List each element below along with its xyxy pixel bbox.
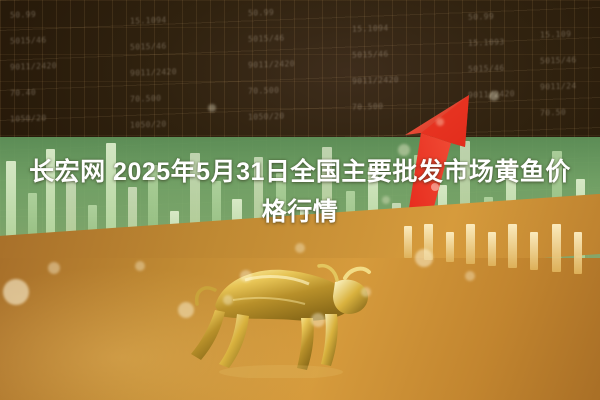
bokeh-dot [415, 249, 433, 267]
bokeh-dot [178, 302, 194, 318]
banner-title: 长宏网 2025年5月31日全国主要批发市场黄鱼价 格行情 [0, 152, 600, 232]
bokeh-dot [465, 271, 475, 281]
bokeh-dot [240, 270, 252, 282]
bokeh-dot [135, 261, 145, 271]
bokeh-dot [3, 279, 29, 305]
bokeh-dot [208, 104, 216, 112]
banner-image: 50.995015/469011/242070.401050/2015.1094… [0, 0, 600, 400]
title-line-2: 格行情 [0, 192, 600, 232]
title-line-1: 长宏网 2025年5月31日全国主要批发市场黄鱼价 [0, 152, 600, 192]
bokeh-dot [489, 91, 499, 101]
bokeh-dot [223, 295, 233, 305]
bokeh-dot [311, 313, 325, 327]
bokeh-dot [361, 287, 371, 297]
bokeh-dot [48, 262, 60, 274]
bokeh-dot [295, 243, 305, 253]
bokeh-dot [436, 118, 444, 126]
